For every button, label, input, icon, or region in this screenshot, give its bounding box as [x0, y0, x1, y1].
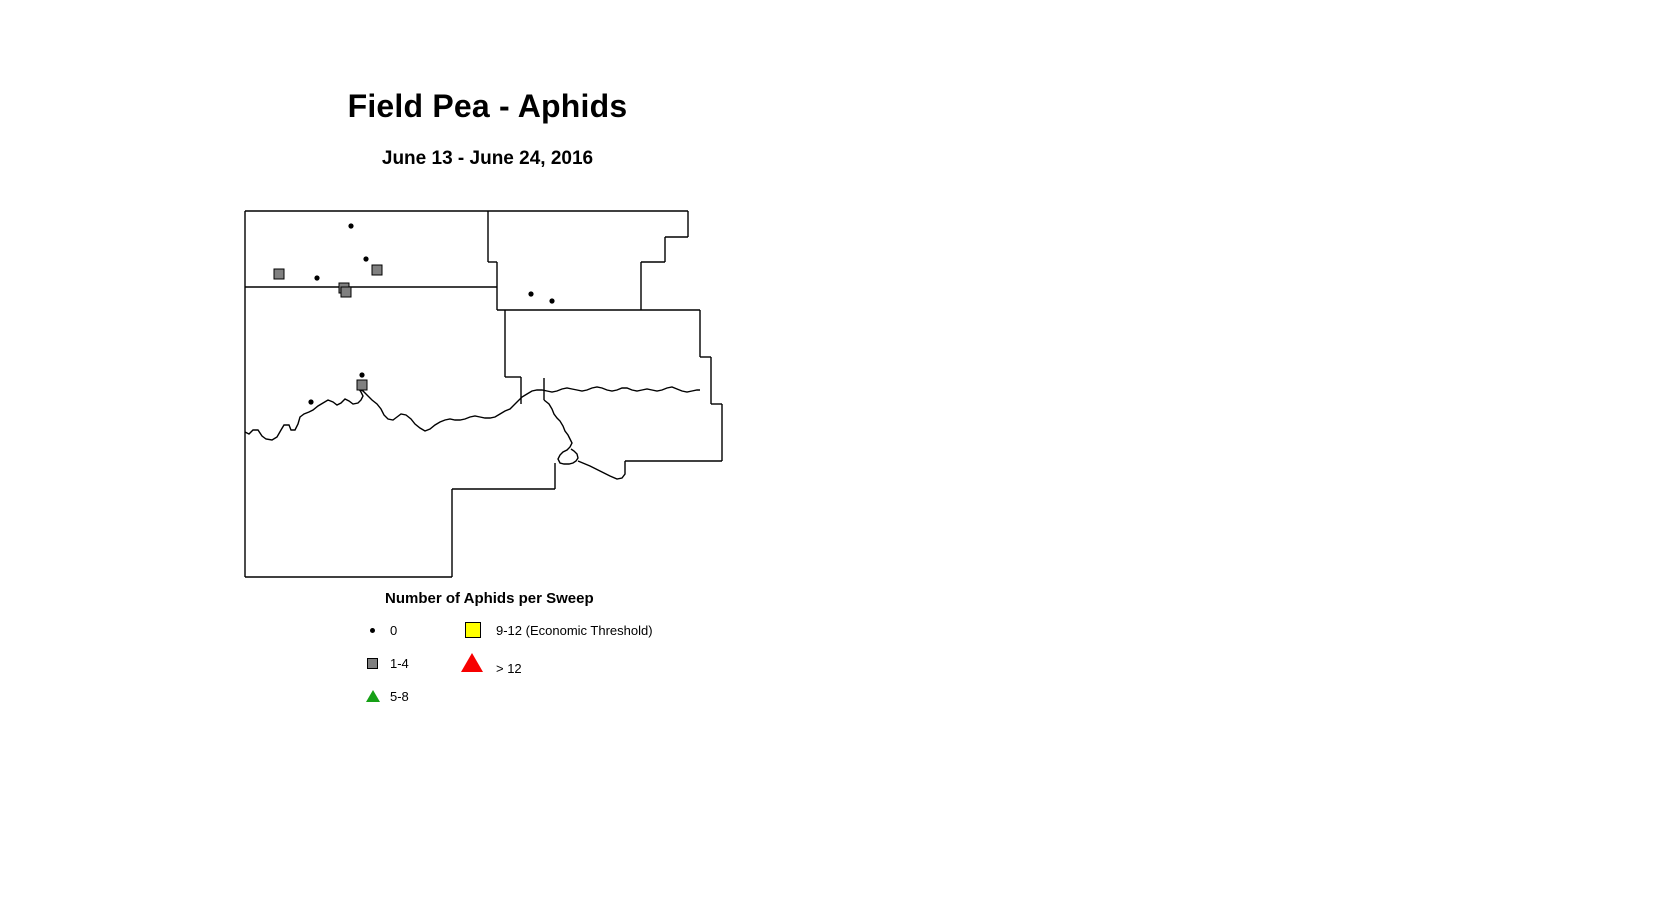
legend-title: Number of Aphids per Sweep	[385, 590, 594, 607]
green-triangle-icon	[364, 686, 388, 708]
map-legend: Number of Aphids per Sweep 0 1-4 5-8 9-1…	[0, 590, 1673, 710]
map-page: Field Pea - Aphids June 13 - June 24, 20…	[0, 0, 1673, 900]
gray-square-icon	[364, 653, 388, 675]
legend-item-label: 1-4	[390, 656, 409, 671]
map-marker	[314, 275, 319, 280]
map-marker	[363, 256, 368, 261]
map-marker	[549, 298, 554, 303]
legend-item-label: 0	[390, 623, 397, 638]
legend-item-label: 5-8	[390, 689, 409, 704]
yellow-square-icon	[463, 620, 487, 642]
county-boundaries	[245, 211, 722, 577]
black-dot-icon	[364, 620, 388, 642]
red-triangle-icon	[463, 653, 487, 675]
map-marker	[372, 265, 382, 275]
survey-region-map	[0, 0, 1673, 900]
map-marker	[359, 372, 364, 377]
map-marker	[341, 287, 351, 297]
legend-item-label: 9-12 (Economic Threshold)	[496, 623, 653, 638]
map-marker	[274, 269, 284, 279]
map-marker	[357, 380, 367, 390]
map-marker	[348, 223, 353, 228]
legend-item-label: > 12	[496, 661, 522, 676]
map-marker	[528, 291, 533, 296]
map-marker	[308, 399, 313, 404]
